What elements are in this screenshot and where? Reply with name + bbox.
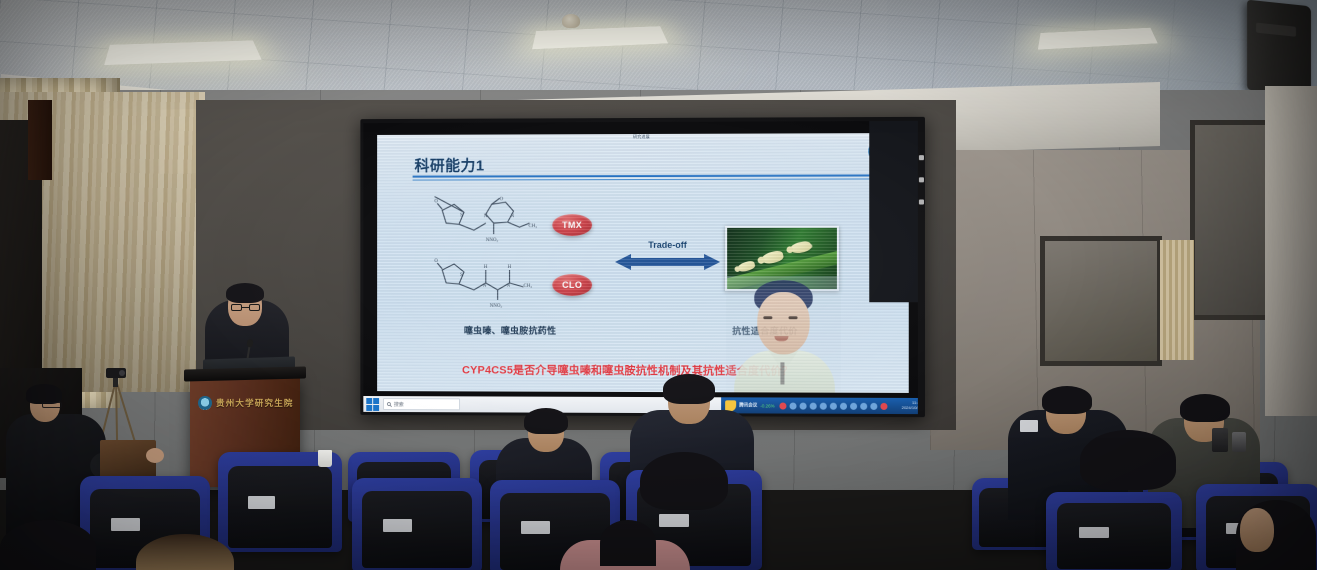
whitefly (789, 240, 812, 255)
more-icon[interactable] (871, 402, 878, 409)
podium-institution-text: 贵州大学研究生院 (216, 397, 294, 409)
svg-text:O: O (434, 259, 438, 264)
svg-text:H: H (508, 265, 512, 270)
tripod-neck (113, 377, 118, 387)
notebook (1020, 420, 1038, 432)
clock-date: 2024/10/24 (902, 406, 918, 411)
input-button-icon[interactable] (919, 199, 924, 204)
slide-title: 科研能力1 (415, 154, 485, 175)
manage-members-icon[interactable] (810, 402, 817, 409)
search-placeholder-text: 搜索 (394, 401, 404, 408)
ceiling-speaker (1247, 0, 1311, 96)
meeting-clock: 11:46 2024/10/24 (902, 401, 918, 410)
meeting-app-name: 腾讯会议 (739, 402, 757, 408)
presenter-hair (226, 283, 264, 303)
menu-button-icon[interactable] (919, 177, 924, 182)
svg-text:N: N (483, 284, 487, 289)
display-screen[interactable]: 研究进展 科研能力1 (363, 121, 918, 414)
podium-top-surface (184, 367, 306, 382)
slide-caption-left: 噻虫嗪、噻虫胺抗药性 (464, 324, 556, 337)
glass-panel (1040, 236, 1162, 366)
left-attendee-hair (26, 384, 62, 404)
svg-text:NNO₂: NNO₂ (486, 238, 499, 243)
participant-face (757, 292, 809, 354)
wall-pillar (1265, 86, 1317, 416)
slide-title-rule (413, 174, 895, 177)
presenter-glasses (231, 304, 260, 311)
share-screen-icon[interactable] (830, 402, 837, 409)
smoke-detector-icon (562, 14, 580, 28)
display-side-buttons[interactable] (919, 155, 924, 276)
podium-base (28, 100, 52, 180)
search-icon (387, 402, 392, 407)
trade-off-label: Trade-off (620, 240, 715, 250)
security-icon[interactable] (800, 402, 807, 409)
svg-text:S: S (460, 273, 463, 278)
double-arrow-icon (615, 254, 720, 270)
thermos-bottle (1232, 432, 1246, 452)
annotate-icon[interactable] (850, 402, 857, 409)
svg-text:O: O (500, 197, 504, 202)
meeting-toolbar[interactable]: 腾讯会议 -0.26% 11:46 2024/1 (721, 397, 918, 414)
molecule-label-clo: CLO (552, 274, 592, 296)
svg-text:CH₃: CH₃ (528, 224, 537, 229)
molecule-tmx-structure: O S O N N NNO₂ CH₃ (434, 196, 553, 254)
svg-text:O: O (434, 199, 438, 204)
leave-meeting-icon[interactable] (881, 402, 888, 409)
record-icon[interactable] (840, 402, 847, 409)
taskbar-search-input[interactable]: 搜索 (383, 398, 460, 410)
seat (352, 478, 482, 570)
meeting-controls[interactable] (780, 402, 888, 409)
whitefly (760, 249, 784, 265)
settings-icon[interactable] (860, 402, 867, 409)
svg-text:N: N (484, 214, 488, 219)
video-camera-icon (106, 368, 126, 378)
paper-cup (318, 450, 332, 467)
participant-eye (763, 316, 772, 319)
remote-participant-video[interactable] (726, 276, 841, 393)
powerpoint-slide[interactable]: 研究进展 科研能力1 (377, 133, 909, 393)
svg-text:H: H (484, 265, 488, 270)
seat (1046, 492, 1182, 570)
thermos-bottle (1212, 428, 1228, 452)
seat (218, 452, 342, 552)
svg-text:NNO₂: NNO₂ (490, 304, 503, 309)
meeting-status-text: -0.26% (760, 403, 774, 408)
participant-eye (788, 316, 797, 319)
lecture-hall-photo: 研究进展 科研能力1 (0, 0, 1317, 570)
vertical-blind (1160, 240, 1194, 360)
slide-title-rule-thin (413, 178, 895, 180)
left-attendee-glasses (42, 402, 62, 408)
screen-letterbox-area (869, 121, 918, 302)
university-logo-icon (198, 396, 212, 410)
mute-microphone-icon[interactable] (780, 402, 787, 409)
power-button-icon[interactable] (919, 155, 924, 160)
left-attendee-hand (146, 448, 164, 463)
slide-tiny-header: 研究进展 (633, 134, 650, 140)
chat-icon[interactable] (820, 402, 827, 409)
svg-text:N: N (511, 214, 515, 219)
svg-text:CH₃: CH₃ (523, 284, 532, 289)
svg-text:S: S (460, 213, 463, 218)
presentation-display[interactable]: 研究进展 科研能力1 (360, 117, 925, 417)
start-button-icon[interactable] (366, 398, 379, 411)
molecule-label-tmx: TMX (552, 214, 592, 236)
molecule-clo-structure: O S N N H H NNO₂ CH₃ (434, 256, 553, 314)
svg-text:N: N (507, 284, 511, 289)
stop-video-icon[interactable] (790, 402, 797, 409)
participant-lanyard (780, 362, 784, 384)
